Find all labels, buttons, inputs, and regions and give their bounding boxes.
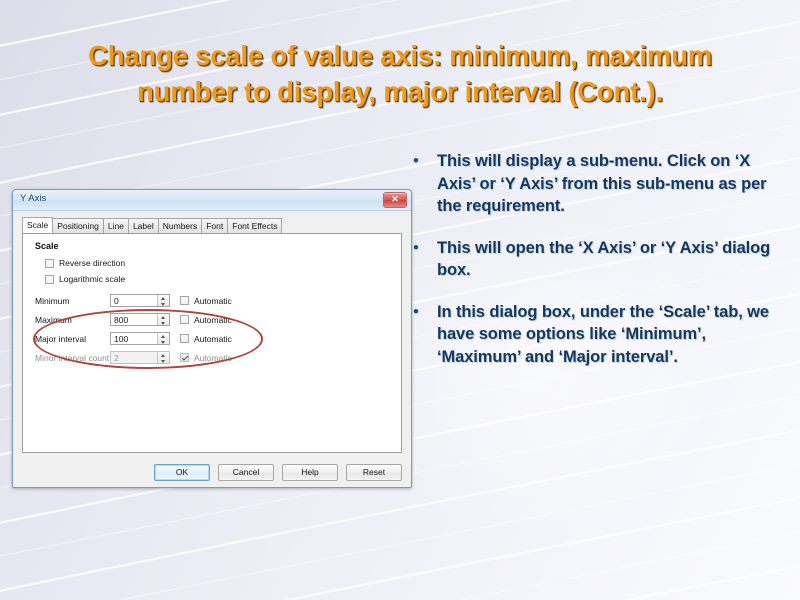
list-item: • This will display a sub-menu. Click on… xyxy=(409,150,781,218)
minor-interval-count-field-row: Minor interval count 2 Automatic xyxy=(35,349,243,366)
logarithmic-scale-checkbox-row[interactable]: Logarithmic scale xyxy=(45,274,125,284)
spin-down-icon[interactable] xyxy=(158,320,169,326)
logarithmic-scale-checkbox[interactable] xyxy=(45,275,54,284)
scale-tab-panel: Scale Reverse direction Logarithmic scal… xyxy=(22,233,402,453)
major-interval-automatic-checkbox-row[interactable]: Automatic xyxy=(180,334,232,344)
maximum-spin-buttons[interactable] xyxy=(157,314,169,325)
bullet-marker-icon: • xyxy=(409,150,437,173)
bullet-text: This will display a sub-menu. Click on ‘… xyxy=(437,150,781,218)
maximum-automatic-checkbox[interactable] xyxy=(180,315,189,324)
spin-down-icon[interactable] xyxy=(158,301,169,307)
dialog-body: Scale Positioning Line Label Numbers Fon… xyxy=(13,211,411,488)
minimum-field-row: Minimum 0 Automatic xyxy=(35,292,243,309)
dialog-titlebar[interactable]: Y Axis ✕ xyxy=(13,190,411,211)
minimum-automatic-checkbox[interactable] xyxy=(180,296,189,305)
major-interval-field-row: Major interval 100 Automatic xyxy=(35,330,243,347)
bullet-marker-icon: • xyxy=(409,301,437,324)
tab-positioning[interactable]: Positioning xyxy=(52,218,104,233)
minor-interval-count-label: Minor interval count xyxy=(35,353,110,363)
maximum-automatic-label: Automatic xyxy=(194,315,232,325)
presentation-slide: Change scale of value axis: minimum, max… xyxy=(0,0,800,600)
help-button[interactable]: Help xyxy=(282,464,338,481)
maximum-label: Maximum xyxy=(35,315,110,325)
tab-scale[interactable]: Scale xyxy=(22,217,53,233)
minimum-automatic-checkbox-row[interactable]: Automatic xyxy=(180,296,232,306)
tab-line[interactable]: Line xyxy=(103,218,129,233)
minor-interval-count-stepper: 2 xyxy=(110,351,170,364)
tab-label[interactable]: Label xyxy=(128,218,159,233)
tab-font-effects[interactable]: Font Effects xyxy=(227,218,282,233)
bullet-text: In this dialog box, under the ‘Scale’ ta… xyxy=(437,301,781,369)
minimum-automatic-label: Automatic xyxy=(194,296,232,306)
tab-strip: Scale Positioning Line Label Numbers Fon… xyxy=(22,217,281,233)
maximum-stepper[interactable]: 800 xyxy=(110,313,170,326)
maximum-value: 800 xyxy=(111,315,128,325)
minimum-stepper[interactable]: 0 xyxy=(110,294,170,307)
reverse-direction-checkbox[interactable] xyxy=(45,259,54,268)
major-interval-automatic-checkbox[interactable] xyxy=(180,334,189,343)
logarithmic-scale-label: Logarithmic scale xyxy=(59,274,125,284)
bullet-marker-icon: • xyxy=(409,237,437,260)
page-title: Change scale of value axis: minimum, max… xyxy=(36,38,764,110)
major-interval-stepper[interactable]: 100 xyxy=(110,332,170,345)
dialog-button-bar: OK Cancel Help Reset xyxy=(22,464,402,481)
dialog-title: Y Axis xyxy=(20,193,46,204)
minor-interval-count-automatic-checkbox xyxy=(180,353,189,362)
close-icon[interactable]: ✕ xyxy=(383,192,407,208)
bullet-text: This will open the ‘X Axis’ or ‘Y Axis’ … xyxy=(437,237,781,282)
minor-interval-count-automatic-label: Automatic xyxy=(194,353,232,363)
major-interval-label: Major interval xyxy=(35,334,110,344)
tab-numbers[interactable]: Numbers xyxy=(158,218,202,233)
maximum-automatic-checkbox-row[interactable]: Automatic xyxy=(180,315,232,325)
list-item: • This will open the ‘X Axis’ or ‘Y Axis… xyxy=(409,237,781,282)
major-interval-spin-buttons[interactable] xyxy=(157,333,169,344)
cancel-button[interactable]: Cancel xyxy=(218,464,274,481)
reverse-direction-checkbox-row[interactable]: Reverse direction xyxy=(45,258,125,268)
scale-group-label: Scale xyxy=(35,241,59,251)
reverse-direction-label: Reverse direction xyxy=(59,258,125,268)
axis-dialog-window: Y Axis ✕ Scale Positioning Line Label Nu… xyxy=(12,189,412,488)
major-interval-value: 100 xyxy=(111,334,128,344)
spin-down-icon xyxy=(158,358,169,364)
maximum-field-row: Maximum 800 Automatic xyxy=(35,311,243,328)
minimum-label: Minimum xyxy=(35,296,110,306)
minimum-spin-buttons[interactable] xyxy=(157,295,169,306)
bullet-list: • This will display a sub-menu. Click on… xyxy=(409,150,781,387)
minimum-value: 0 xyxy=(111,296,119,306)
reset-button[interactable]: Reset xyxy=(346,464,402,481)
ok-button[interactable]: OK xyxy=(154,464,210,481)
major-interval-automatic-label: Automatic xyxy=(194,334,232,344)
spin-down-icon[interactable] xyxy=(158,339,169,345)
tab-font[interactable]: Font xyxy=(201,218,228,233)
minor-interval-count-spin-buttons xyxy=(157,352,169,363)
minor-interval-count-value: 2 xyxy=(111,353,119,363)
minor-interval-count-automatic-checkbox-row: Automatic xyxy=(180,353,232,363)
list-item: • In this dialog box, under the ‘Scale’ … xyxy=(409,301,781,369)
